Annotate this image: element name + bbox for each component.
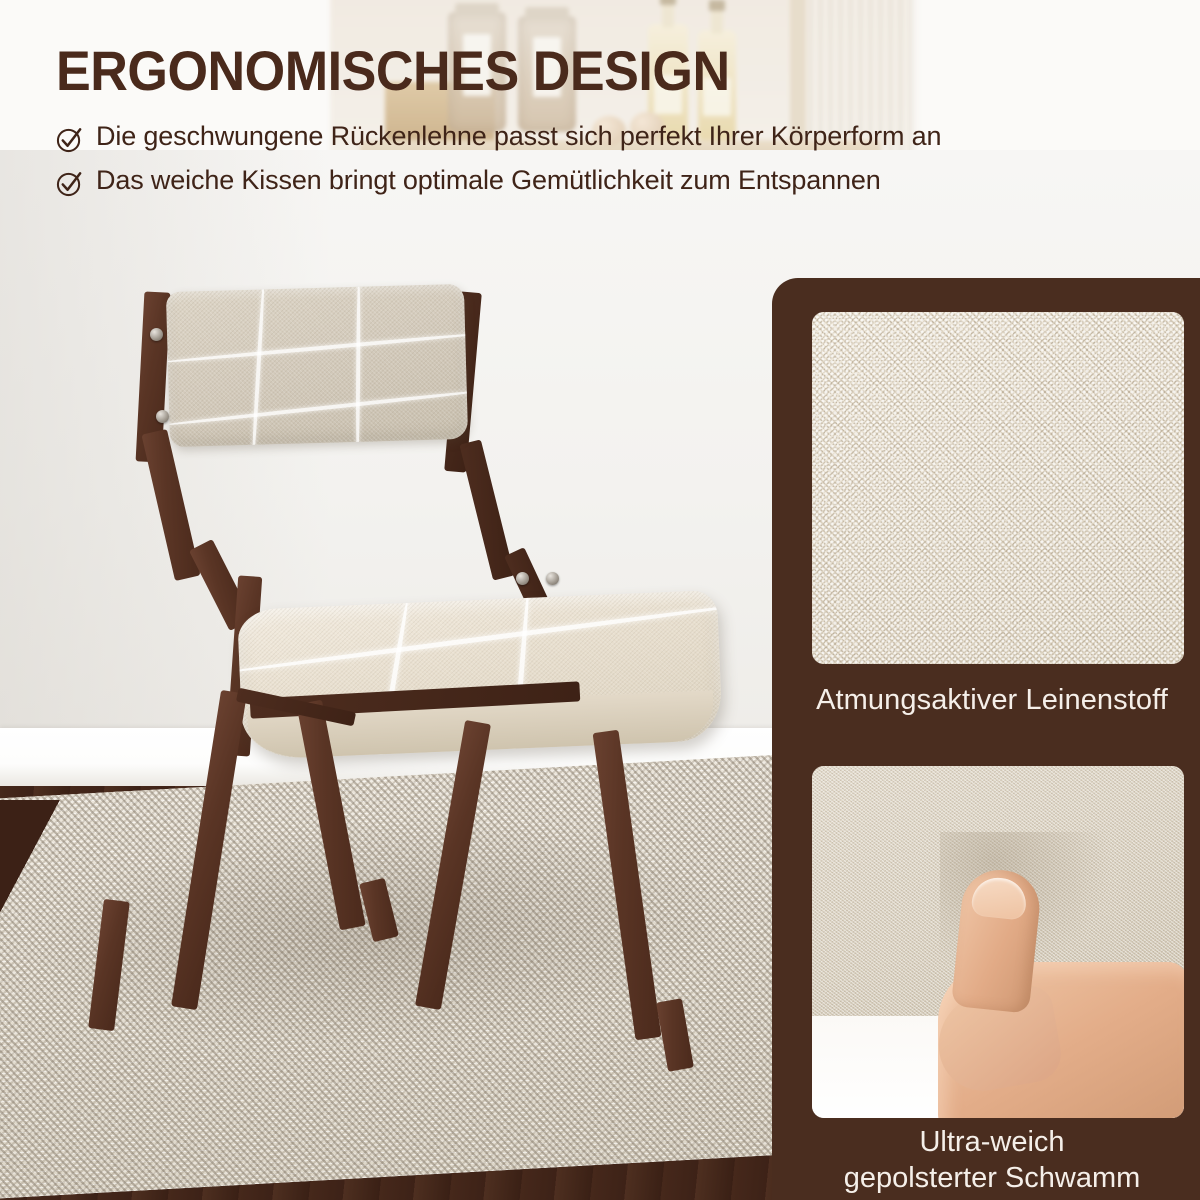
chair-bolt [156, 410, 169, 423]
page-title: ERGONOMISCHES DESIGN [56, 40, 1079, 102]
thumbnail [970, 875, 1028, 920]
chair-bolt [150, 328, 163, 341]
chair-back-post-left-mid [141, 429, 200, 581]
feature-text: Die geschwungene Rückenlehne passt sich … [96, 120, 941, 152]
check-circle-icon [56, 126, 83, 153]
check-circle-icon [56, 170, 83, 197]
fabric-caption: Atmungsaktiver Leinenstoff [772, 678, 1200, 722]
feature-text: Das weiche Kissen bringt optimale Gemütl… [96, 164, 881, 196]
headline-block: ERGONOMISCHES DESIGN Die geschwungene Rü… [56, 40, 1156, 208]
sponge-caption-line1: Ultra-weich [772, 1124, 1200, 1160]
list-item: Das weiche Kissen bringt optimale Gemütl… [56, 164, 1156, 197]
chair-leg-rear-right-foot [656, 998, 694, 1071]
chair-leg-front-left [171, 690, 247, 1010]
marketing-banner: ERGONOMISCHES DESIGN Die geschwungene Rü… [0, 0, 1200, 1200]
chair-bolt [516, 572, 529, 585]
chair-backrest-cushion [166, 284, 468, 447]
chair-leg-rear-right [593, 730, 662, 1041]
chair-bolt [546, 572, 559, 585]
chair-leg-rear-left-foot [359, 878, 399, 943]
fabric-closeup-image [812, 312, 1184, 664]
chair-leg-front-right [415, 720, 491, 1010]
chair-leg-front-left-foot [88, 899, 130, 1031]
sponge-press-image [812, 766, 1184, 1118]
backrest-fabric-texture [166, 284, 468, 447]
list-item: Die geschwungene Rückenlehne passt sich … [56, 120, 1156, 153]
linen-weave-texture [812, 312, 1184, 664]
sponge-caption: Ultra-weich gepolsterter Schwamm [772, 1124, 1200, 1200]
feature-bullet-list: Die geschwungene Rückenlehne passt sich … [56, 120, 1156, 197]
sponge-caption-line2: gepolsterter Schwamm [772, 1160, 1200, 1196]
